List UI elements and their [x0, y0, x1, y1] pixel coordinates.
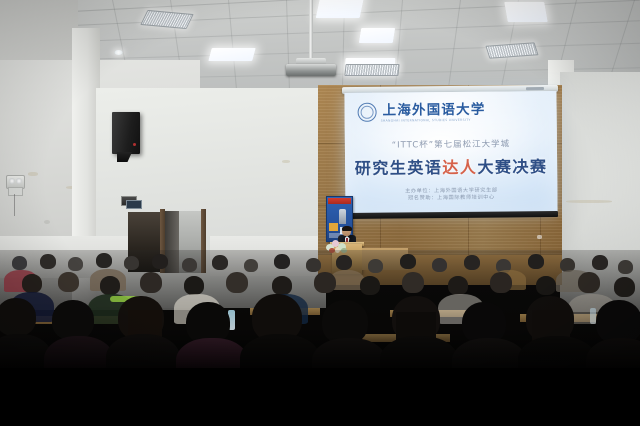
- slide-title: 研究生英语达人大赛决赛: [355, 153, 548, 179]
- audience-head: [272, 276, 292, 295]
- slide-institution-name: 上海外国语大学: [383, 104, 486, 118]
- audience-head: [536, 276, 556, 295]
- audience-head: [96, 253, 112, 268]
- door-sign: [126, 200, 142, 209]
- slide-title-row: 研究生英语达人大赛决赛: [345, 153, 557, 179]
- poster-header-band: [328, 198, 351, 204]
- emergency-light-body: [8, 187, 23, 196]
- audience-head: [618, 260, 633, 274]
- speaker-led-icon: [133, 143, 136, 146]
- audience-head: [152, 254, 168, 269]
- poster-figure: [339, 209, 346, 224]
- audience-head: [140, 272, 162, 293]
- audience-head: [400, 254, 416, 269]
- slide-subtitle: “ITTC杯”第七届松江大学城: [392, 137, 511, 150]
- audience-head: [578, 272, 600, 293]
- audience-head: [490, 272, 512, 293]
- audience-head: [0, 298, 36, 336]
- audience-head: [124, 256, 139, 270]
- projector-mount-pole: [309, 0, 313, 62]
- ceiling-projector: [286, 64, 336, 76]
- foreground-dark-area: [0, 368, 640, 426]
- audience-head: [58, 272, 79, 292]
- wall-speaker: [112, 112, 140, 154]
- sisu-seal-icon: [358, 102, 377, 121]
- slide-title-part1: 研究生英语: [355, 158, 443, 178]
- screen-brand-label: [526, 87, 544, 90]
- ceiling-light-grille: [344, 64, 399, 76]
- audience-head: [448, 276, 468, 295]
- audience-head: [336, 255, 352, 270]
- audience-head: [314, 272, 336, 293]
- audience-head: [68, 257, 83, 271]
- slide-subtitle-row: “ITTC杯”第七届松江大学城: [345, 131, 557, 152]
- slide-footer-line-2: 冠名赞助：上海国际教师培训中心: [345, 194, 557, 203]
- ceiling-light-panel: [208, 48, 255, 61]
- audience-head: [306, 258, 321, 272]
- audience-head: [184, 276, 204, 295]
- slide-institution-name-en: SHANGHAI INTERNATIONAL STUDIES UNIVERSIT…: [381, 118, 471, 123]
- audience-head: [226, 272, 248, 293]
- ceiling-light-panel: [359, 28, 395, 43]
- audience-head: [244, 259, 258, 272]
- audience-head: [368, 259, 383, 273]
- slide-footer: 主办单位：上海外国语大学研究生部 冠名赞助：上海国际教师培训中心: [345, 187, 557, 203]
- audience-head: [212, 255, 228, 270]
- poster-block: [329, 223, 338, 231]
- audience-head: [40, 254, 56, 269]
- audience-head: [12, 256, 27, 270]
- audience-head: [402, 272, 424, 293]
- ceiling-light-panel: [316, 0, 365, 18]
- audience-head: [614, 277, 635, 297]
- audience-head: [22, 274, 42, 293]
- audience-head: [274, 254, 290, 269]
- audience-head: [360, 276, 380, 295]
- slide-title-part2: 大赛决赛: [477, 157, 547, 177]
- ceiling-light-panel: [504, 2, 548, 22]
- audience-head: [528, 254, 544, 269]
- ceiling-downlight: [114, 50, 123, 55]
- audience-head: [52, 300, 94, 340]
- audience-head: [592, 255, 608, 270]
- audience-head: [182, 258, 197, 272]
- slide-title-highlight: 达人: [442, 158, 477, 177]
- emergency-light-wire: [14, 194, 15, 216]
- audience-head: [464, 255, 480, 270]
- audience-head: [100, 276, 120, 295]
- audience-head: [432, 258, 447, 272]
- lecture-hall-photo: 上海外国语大学 SHANGHAI INTERNATIONAL STUDIES U…: [0, 0, 640, 426]
- presenter-hair: [342, 226, 352, 231]
- projection-screen: 上海外国语大学 SHANGHAI INTERNATIONAL STUDIES U…: [344, 91, 557, 215]
